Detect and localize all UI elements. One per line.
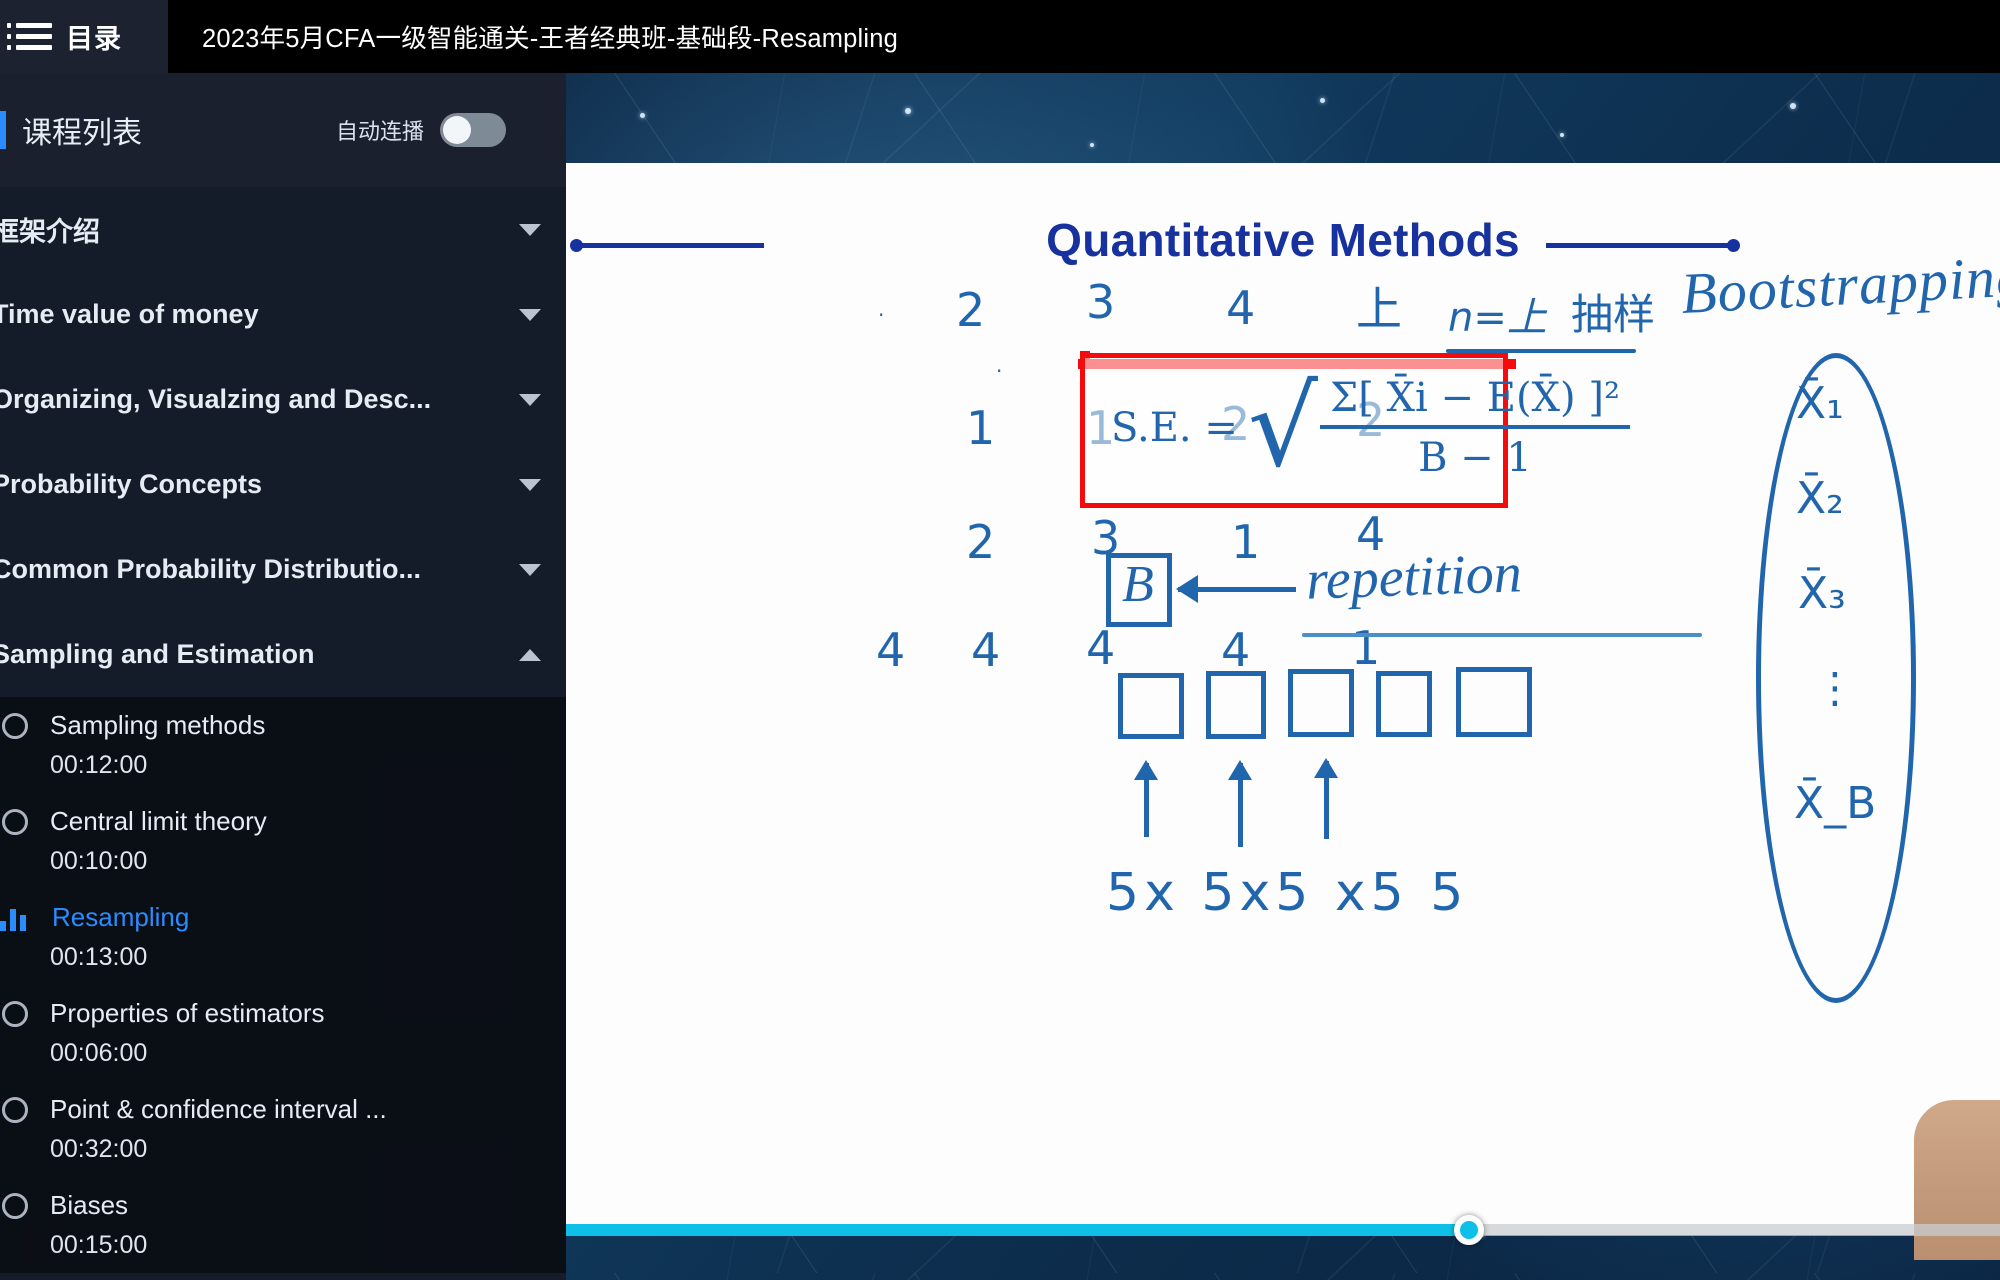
chevron-up-icon[interactable] [519, 649, 541, 661]
formula-denominator: B − 1 [1408, 429, 1542, 481]
ink-grid-r4c3: 4 [1221, 623, 1250, 677]
ink-grid-r1c2: 3 [1086, 275, 1115, 329]
ink-sampling-cn: 抽样 [1571, 281, 1655, 342]
equalizer-playing-icon [0, 905, 30, 931]
lesson-title: Resampling [52, 902, 189, 933]
ink-n-equals: n=上 [1448, 285, 1547, 343]
lesson-title: Sampling methods [50, 710, 265, 741]
whiteboard-slide: Quantitative Methods 2 3 4 上 1 1 2 2 2 3… [566, 163, 2000, 1235]
ink-grid-r1c3: 4 [1226, 281, 1255, 335]
ink-five-sequence: 5x 5x5 x5 5 [1106, 863, 1468, 923]
formula-radical: √ [1248, 381, 1318, 475]
menu-label: 目录 [66, 17, 122, 56]
chapter-label: Time value of money [0, 299, 259, 330]
sidebar-chapter-probability-concepts[interactable]: Probability Concepts [0, 442, 566, 527]
ink-grid-r3c3: 1 [1231, 515, 1260, 569]
ink-xbar-ellipsis: ⋮ [1814, 663, 1856, 712]
lesson-item-sampling-methods[interactable]: Sampling methods 00:12:00 [0, 697, 566, 793]
ink-repetition-label: repetition [1305, 541, 1523, 612]
ink-grid-r2c1: 1 [966, 401, 995, 455]
lesson-duration: 00:10:00 [50, 847, 546, 876]
ink-xbar-2: X̄₂ [1796, 473, 1844, 524]
sidebar-chapter-sampling-estimation[interactable]: Sampling and Estimation [0, 612, 566, 697]
app-header: 目录 2023年5月CFA一级智能通关-王者经典班-基础段-Resampling [0, 0, 2000, 73]
hamburger-menu-icon[interactable] [16, 23, 52, 50]
progress-handle[interactable] [1454, 1215, 1484, 1245]
chevron-down-icon[interactable] [519, 564, 541, 576]
sidebar-chapter-time-value[interactable]: Time value of money [0, 272, 566, 357]
ink-square-5 [1456, 667, 1532, 737]
course-chapter-list[interactable]: 框架介绍 Time value of money Organizing, Vis… [0, 187, 566, 1280]
lesson-item-resampling[interactable]: Resampling 00:13:00 [0, 889, 566, 985]
sidebar-panel-title: 课程列表 [22, 108, 142, 152]
lesson-list: Sampling methods 00:12:00 Central limit … [0, 697, 566, 1273]
formula-lhs: S.E. = [1111, 405, 1238, 451]
ink-square-1 [1118, 673, 1184, 739]
lesson-duration: 00:06:00 [50, 1039, 546, 1068]
ink-grid-r1c4: 上 [1356, 273, 1402, 339]
lesson-item-central-limit-theory[interactable]: Central limit theory 00:10:00 [0, 793, 566, 889]
chapter-label: Organizing, Visualzing and Desc... [0, 384, 431, 415]
presenter-camera [1914, 1100, 2000, 1260]
ink-arrow-head [1176, 575, 1198, 603]
sidebar-chapter-framework[interactable]: 框架介绍 [0, 187, 566, 272]
ink-up-arrow-2 [1238, 763, 1243, 847]
page-title: 2023年5月CFA一级智能通关-王者经典班-基础段-Resampling [202, 18, 898, 55]
lesson-duration: 00:32:00 [50, 1135, 546, 1164]
ink-xbar-3: X̄₃ [1798, 568, 1846, 619]
sidebar-chapter-hypothesis-testing[interactable]: Hypothesis Testing [0, 1273, 566, 1280]
circle-icon [2, 1097, 28, 1123]
lesson-title: Point & confidence interval ... [50, 1094, 387, 1125]
lesson-item-properties-of-estimators[interactable]: Properties of estimators 00:06:00 [0, 985, 566, 1081]
ink-repetition-underline [1302, 633, 1702, 637]
sidebar-chapter-organizing[interactable]: Organizing, Visualzing and Desc... [0, 357, 566, 442]
lesson-duration: 00:12:00 [50, 751, 546, 780]
lesson-duration: 00:13:00 [50, 943, 546, 972]
ink-grid-r4c2: 4 [1086, 621, 1115, 675]
ink-up-arrow-1 [1144, 763, 1149, 837]
progress-fill [566, 1224, 1469, 1236]
chapter-label: Common Probability Distributio... [0, 554, 421, 585]
circle-icon [2, 713, 28, 739]
chapter-label: Sampling and Estimation [0, 639, 315, 670]
circle-icon [2, 1001, 28, 1027]
autoplay-toggle[interactable] [440, 113, 506, 147]
ink-grid-r4c4: 1 [1351, 621, 1380, 675]
ink-grid-r3c1: 2 [966, 515, 995, 569]
chevron-down-icon[interactable] [519, 394, 541, 406]
circle-icon [2, 1193, 28, 1219]
course-sidebar: 课程列表 自动连播 框架介绍 Time value of money Organ… [0, 73, 566, 1280]
sidebar-header: 课程列表 自动连播 [0, 73, 566, 187]
ink-xbar-b: X̄_B [1794, 778, 1876, 829]
autoplay-label: 自动连播 [336, 114, 424, 146]
ink-up-arrow-3 [1324, 761, 1329, 839]
lesson-duration: 00:15:00 [50, 1231, 546, 1260]
video-progress-bar[interactable] [566, 1224, 2000, 1236]
ink-grid-r4c1: 4 [971, 623, 1000, 677]
lesson-item-biases[interactable]: Biases 00:15:00 [0, 1177, 566, 1273]
formula-numerator: Σ[ X̄i − E(X̄) ]² [1320, 375, 1630, 429]
ink-square-2 [1206, 671, 1266, 739]
autoplay-control[interactable]: 自动连播 [336, 113, 506, 147]
ink-xbar-1: X̄₁ [1796, 378, 1844, 429]
chevron-down-icon[interactable] [519, 224, 541, 236]
sidebar-chapter-common-distributions[interactable]: Common Probability Distributio... [0, 527, 566, 612]
menu-toggle[interactable]: 目录 [0, 0, 168, 73]
circle-icon [2, 809, 28, 835]
ink-square-4 [1376, 671, 1432, 737]
chapter-label: 框架介绍 [0, 210, 100, 249]
se-formula: S.E. = √ Σ[ X̄i − E(X̄) ]² B − 1 [1111, 375, 1630, 481]
ink-grid-r4c0: 4 [876, 623, 905, 677]
chapter-label: Probability Concepts [0, 469, 262, 500]
lesson-item-point-confidence-interval[interactable]: Point & confidence interval ... 00:32:00 [0, 1081, 566, 1177]
sidebar-accent-bar [0, 111, 6, 149]
lesson-title: Central limit theory [50, 806, 267, 837]
ink-grid-r1c1: 2 [956, 283, 985, 337]
app-root: Quantitative Methods 2 3 4 上 1 1 2 2 2 3… [0, 0, 2000, 1280]
lesson-title: Biases [50, 1190, 128, 1221]
chevron-down-icon[interactable] [519, 479, 541, 491]
lesson-title: Properties of estimators [50, 998, 325, 1029]
ink-b-letter: B [1122, 555, 1154, 614]
ink-square-3 [1288, 669, 1354, 737]
chevron-down-icon[interactable] [519, 309, 541, 321]
